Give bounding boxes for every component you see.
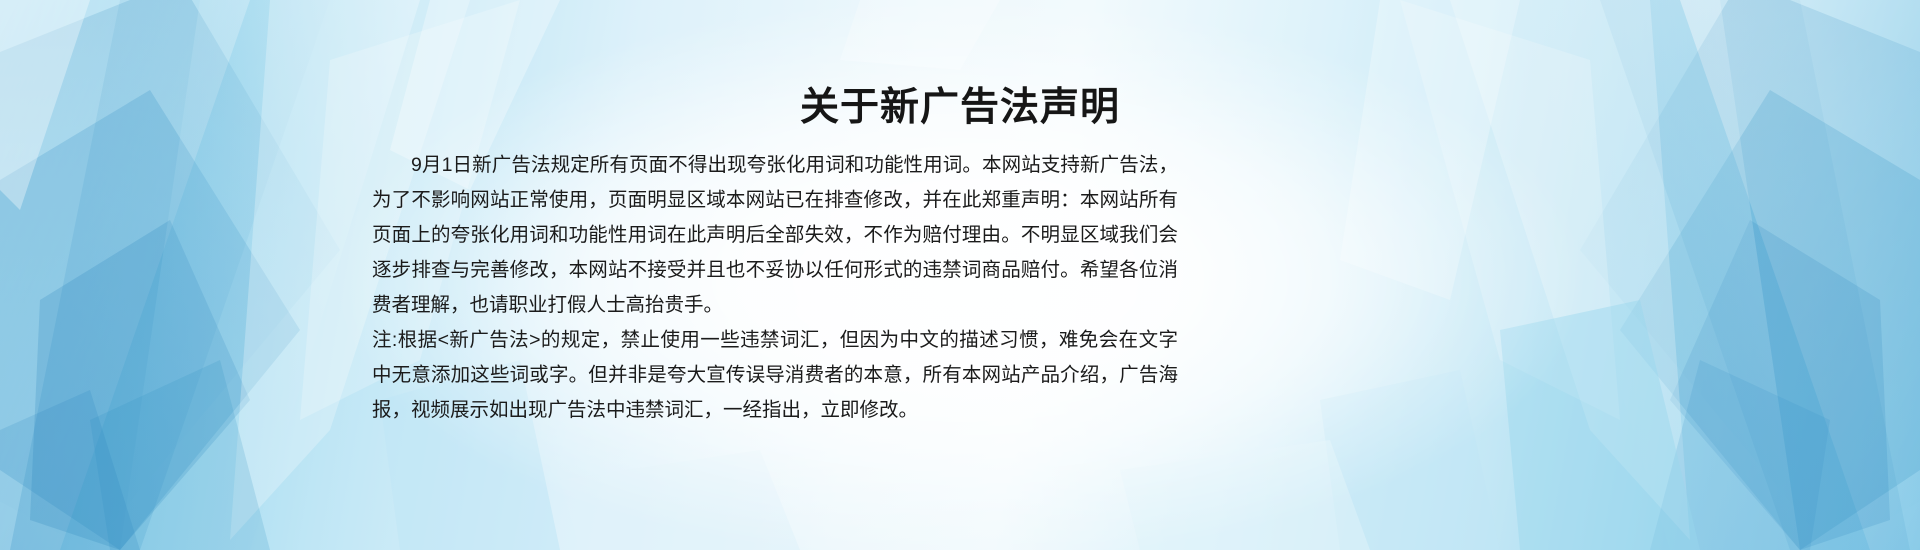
banner-content: 关于新广告法声明 9月1日新广告法规定所有页面不得出现夸张化用词和功能性用词。本… [0,0,1920,550]
advertising-law-statement-banner: 关于新广告法声明 9月1日新广告法规定所有页面不得出现夸张化用词和功能性用词。本… [0,0,1920,550]
page-title: 关于新广告法声明 [0,82,1920,134]
statement-body: 9月1日新广告法规定所有页面不得出现夸张化用词和功能性用词。本网站支持新广告法，… [372,148,1178,428]
statement-paragraph-2: 注:根据<新广告法>的规定，禁止使用一些违禁词汇，但因为中文的描述习惯，难免会在… [372,323,1178,428]
statement-paragraph-1: 9月1日新广告法规定所有页面不得出现夸张化用词和功能性用词。本网站支持新广告法，… [372,148,1178,323]
